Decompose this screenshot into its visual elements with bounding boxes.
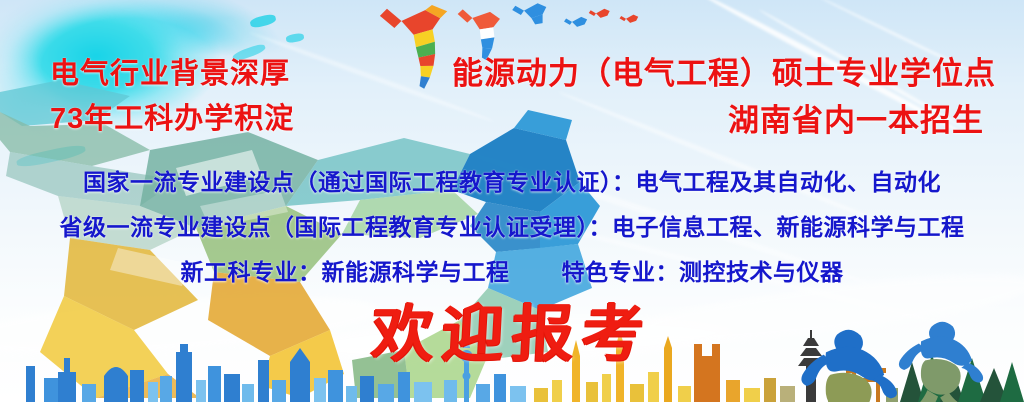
- headline-left-line1: 电气行业背景深厚: [50, 50, 290, 92]
- flying-athlete-icon: [620, 15, 639, 23]
- headline-right-line2: 湖南省内一本招生: [728, 95, 984, 140]
- slogan-welcome-apply: 欢迎报考: [0, 283, 1024, 373]
- flying-athlete-icon: [564, 17, 587, 27]
- flying-athlete-icon: [512, 3, 546, 24]
- body-line-1: 国家一流专业建设点（通过国际工程教育专业认证）：电气工程及其自动化、自动化: [0, 163, 1024, 197]
- body-line-3-left: 新工科专业：新能源科学与工程: [181, 259, 510, 285]
- body-line-2: 省级一流专业建设点（国际工程教育专业认证受理）：电子信息工程、新能源科学与工程: [0, 208, 1024, 242]
- headline-left-line2: 73年工科办学积淀: [50, 95, 294, 137]
- headline-right-line1: 能源动力（电气工程）硕士专业学位点: [452, 48, 996, 93]
- body-line-3-right: 特色专业：测控技术与仪器: [562, 259, 844, 285]
- skier-icon: [371, 0, 448, 90]
- body-line-3: 新工科专业：新能源科学与工程特色专业：测控技术与仪器: [0, 253, 1024, 287]
- recruitment-banner: 电气行业背景深厚 73年工科办学积淀 能源动力（电气工程）硕士专业学位点 湖南省…: [0, 0, 1024, 402]
- flying-athlete-icon: [589, 9, 610, 18]
